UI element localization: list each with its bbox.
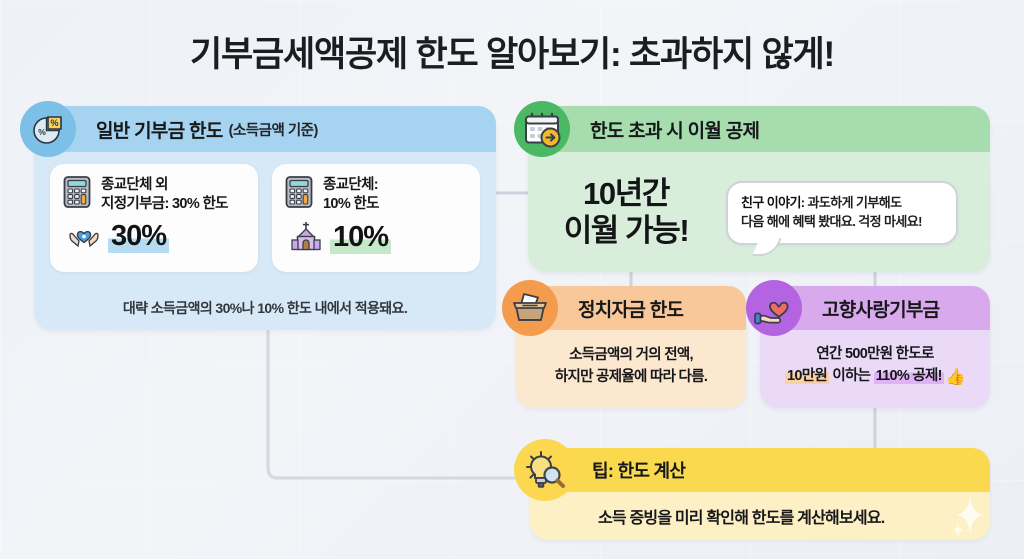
general-item-religious-percent: 10% <box>330 223 391 254</box>
general-item-religious: 종교단체: 10% 한도 10% <box>272 164 480 272</box>
carryover-headline: 10년간 이월 가능! <box>528 176 724 249</box>
hometown-highlight-rate: 110% 공제! <box>874 368 944 384</box>
carryover-headline-line2: 이월 가능! <box>564 213 689 248</box>
friend-story-lead: 친구 이야기: <box>741 195 805 210</box>
hand-heart-icon <box>746 280 802 336</box>
hometown-body-line2-mid: 이하는 <box>829 368 874 384</box>
pie-chart-percent-icon: % % <box>20 101 76 157</box>
hometown-body-line2: 10만원 이하는 110% 공제!👍 <box>785 366 965 390</box>
page-title: 기부금세액공제 한도 알아보기: 초과하지 않게! <box>0 26 1024 77</box>
general-item-nonreligious-label: 종교단체 외 지정기부금: 30% 한도 <box>101 176 228 213</box>
general-footnote: 대략 소득금액의 30%나 10% 한도 내에서 적용돼요. <box>34 298 496 318</box>
card-general-donation-limit: % % 일반 기부금 한도 (소득금액 기준) <box>34 106 496 330</box>
hometown-body-line1: 연간 500만원 한도로 <box>816 344 933 366</box>
general-item-religious-header: 종교단체: 10% 한도 <box>284 175 468 214</box>
calendar-arrow-icon <box>514 101 570 157</box>
political-body-line2: 하지만 공제율에 따라 다름. <box>555 367 707 389</box>
calculator-icon <box>284 175 314 214</box>
card-carryover-header: 한도 초과 시 이월 공제 <box>528 106 990 152</box>
general-item-nonreligious-value-row: 30% <box>62 220 246 255</box>
card-general-header: % % 일반 기부금 한도 (소득금액 기준) <box>34 106 496 152</box>
card-tip-title: 팁: 한도 계산 <box>592 457 685 483</box>
thumbs-up-icon: 👍 <box>946 369 965 386</box>
church-icon <box>288 220 324 257</box>
general-item-nonreligious-header: 종교단체 외 지정기부금: 30% 한도 <box>62 175 246 214</box>
friend-story-line2: 다음 해에 혜택 봤대요. 걱정 마세요! <box>741 214 922 229</box>
card-general-title: 일반 기부금 한도 <box>96 116 223 143</box>
tip-body: 소득 증빙을 미리 확인해 한도를 계산해보세요. <box>598 492 976 540</box>
card-hometown-header: 고향사랑기부금 <box>760 286 990 330</box>
lightbulb-magnifier-icon <box>514 439 576 501</box>
card-general-subtitle: (소득금액 기준) <box>229 119 318 140</box>
general-items-row: 종교단체 외 지정기부금: 30% 한도 30% <box>50 164 480 272</box>
svg-text:%: % <box>38 127 46 137</box>
label-line-1: 종교단체 외 <box>101 177 168 193</box>
label-line-1: 종교단체: <box>323 177 378 193</box>
hometown-highlight-amount: 10만원 <box>785 368 829 384</box>
hometown-body: 연간 500만원 한도로 10만원 이하는 110% 공제!👍 <box>768 332 982 402</box>
hands-heart-icon <box>66 220 102 255</box>
political-body-line1: 소득금액의 거의 전액, <box>569 345 693 367</box>
carryover-headline-line1: 10년간 <box>583 176 669 211</box>
friend-story-speech-bubble: 친구 이야기: 과도하게 기부해도 다음 해에 혜택 봤대요. 걱정 마세요! <box>726 181 958 245</box>
label-line-2: 10% 한도 <box>323 196 379 212</box>
card-carryover-title: 한도 초과 시 이월 공제 <box>590 116 759 143</box>
card-carryover-deduction: 한도 초과 시 이월 공제 10년간 이월 가능! 친구 이야기: 과도하게 기… <box>528 106 990 272</box>
card-political-header: 정치자금 한도 <box>516 286 746 330</box>
friend-story-line1: 과도하게 기부해도 <box>805 195 902 210</box>
political-body: 소득금액의 거의 전액, 하지만 공제율에 따라 다름. <box>524 332 738 402</box>
carryover-body: 10년간 이월 가능! 친구 이야기: 과도하게 기부해도 다음 해에 혜택 봤… <box>528 154 990 272</box>
label-line-2: 지정기부금: 30% 한도 <box>101 196 228 212</box>
general-item-nonreligious-percent: 30% <box>108 222 169 253</box>
card-tip-header: 팁: 한도 계산 <box>530 448 990 492</box>
card-hometown-love-donation: 고향사랑기부금 연간 500만원 한도로 10만원 이하는 110% 공제!👍 <box>760 286 990 408</box>
general-item-religious-label: 종교단체: 10% 한도 <box>323 176 379 213</box>
card-political-funds-limit: 정치자금 한도 소득금액의 거의 전액, 하지만 공제율에 따라 다름. <box>516 286 746 408</box>
general-item-nonreligious: 종교단체 외 지정기부금: 30% 한도 30% <box>50 164 258 272</box>
card-hometown-title: 고향사랑기부금 <box>822 295 939 322</box>
general-item-religious-value-row: 10% <box>284 220 468 257</box>
card-tip-limit-calculation: 팁: 한도 계산 소득 증빙을 미리 확인해 한도를 계산해보세요. <box>530 448 990 540</box>
svg-text:%: % <box>50 118 58 128</box>
ballot-box-icon <box>502 280 558 336</box>
friend-story-text: 친구 이야기: 과도하게 기부해도 다음 해에 혜택 봤대요. 걱정 마세요! <box>741 194 943 232</box>
calculator-icon <box>62 175 92 214</box>
card-political-title: 정치자금 한도 <box>578 295 683 322</box>
